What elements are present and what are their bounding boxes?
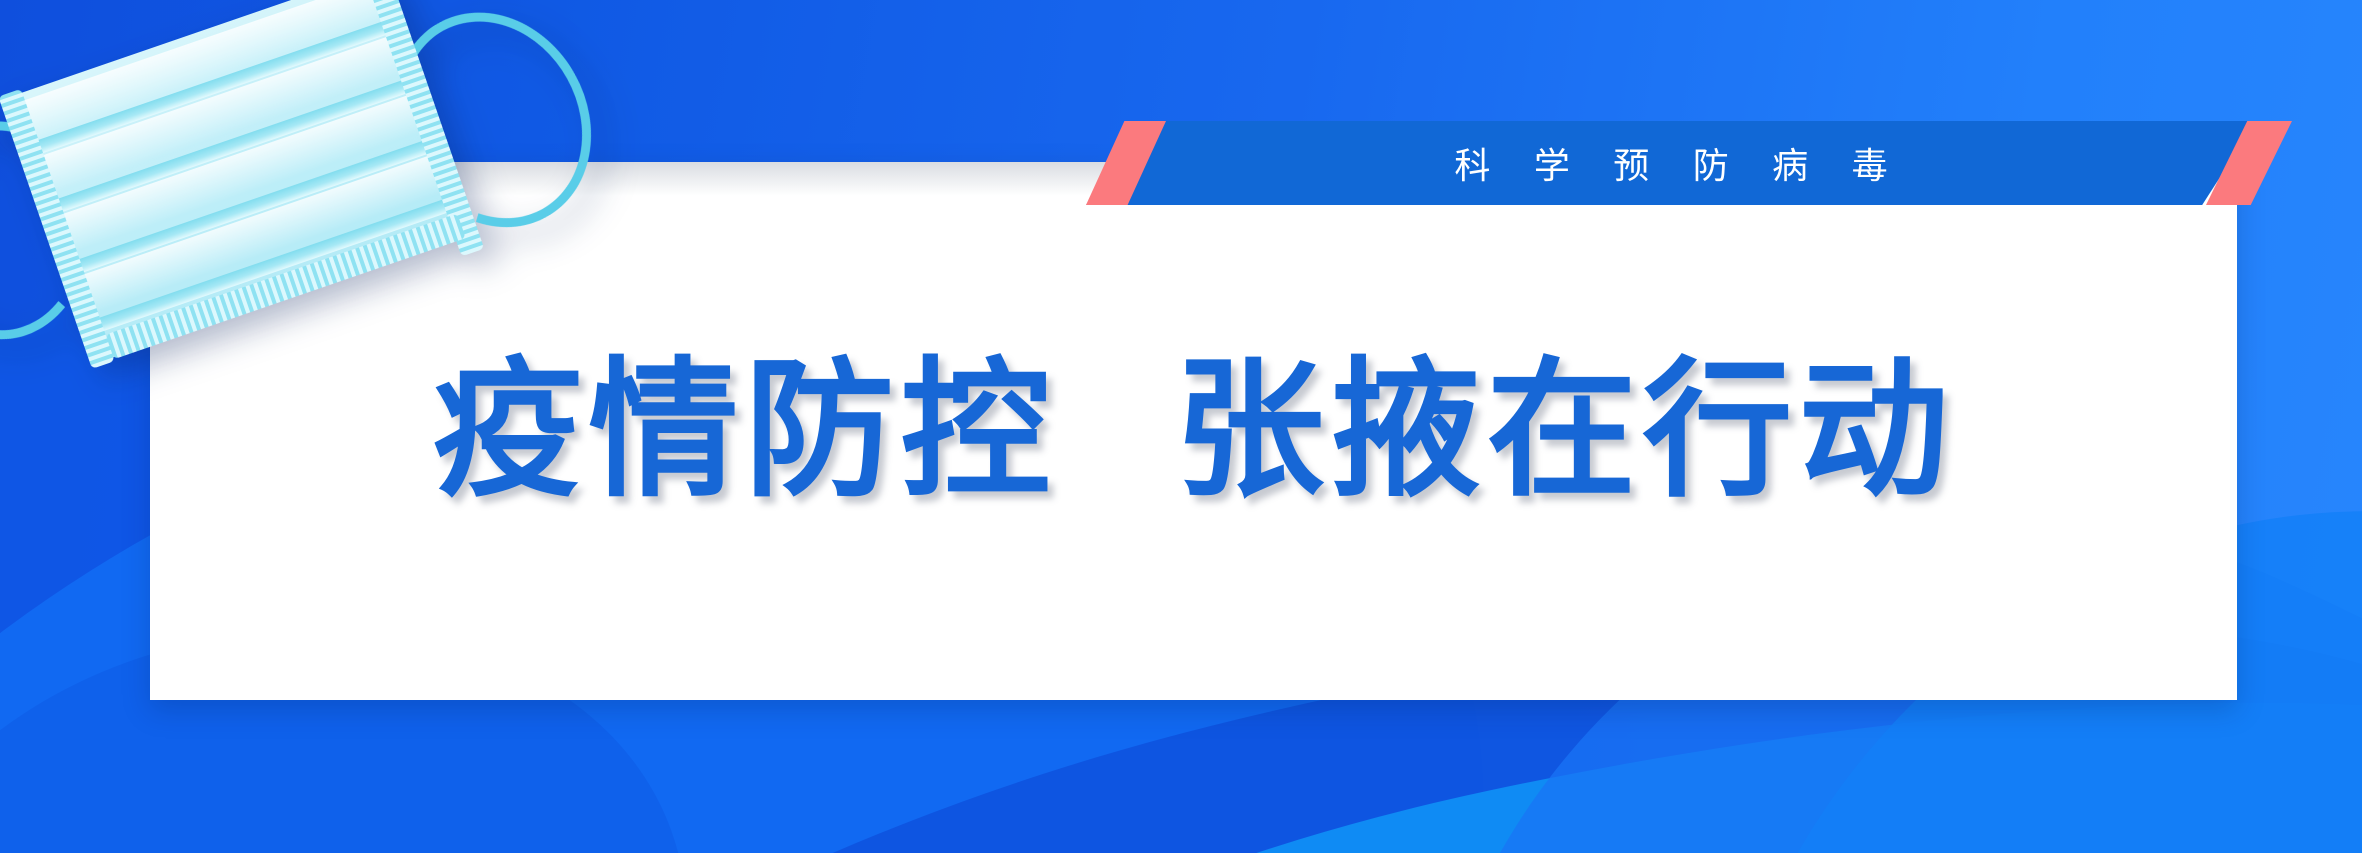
headline-phrase-secondary: 张掖在行动 (1175, 356, 1955, 506)
epidemic-prevention-banner: 科 学 预 防 病 毒 疫情防控 张掖在行动 (0, 0, 2362, 853)
headline-phrase-primary: 疫情防控 (432, 356, 1056, 506)
